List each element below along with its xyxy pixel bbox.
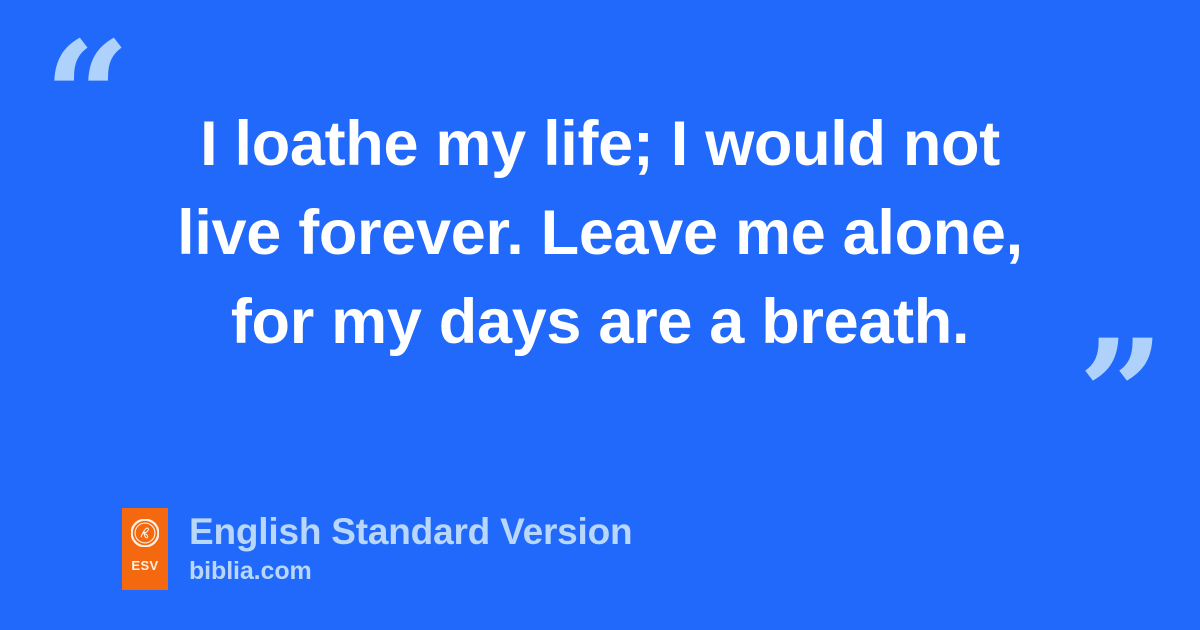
quote-card: “ I loathe my life; I would not live for… <box>0 0 1200 630</box>
quote-line: for my days are a breath. <box>60 278 1140 367</box>
quote-line: live forever. Leave me alone, <box>60 189 1140 278</box>
close-quote-icon: ” <box>1078 320 1164 470</box>
quote-text: I loathe my life; I would not live forev… <box>60 100 1140 367</box>
bible-version-name: English Standard Version <box>189 509 632 554</box>
site-name[interactable]: biblia.com <box>189 556 632 586</box>
esv-seal-icon <box>131 519 159 547</box>
quote-line: I loathe my life; I would not <box>60 100 1140 189</box>
attribution-block: ESV English Standard Version biblia.com <box>122 508 632 590</box>
esv-badge-label: ESV <box>131 559 158 572</box>
attribution-text: English Standard Version biblia.com <box>189 508 632 586</box>
esv-badge: ESV <box>122 508 168 590</box>
